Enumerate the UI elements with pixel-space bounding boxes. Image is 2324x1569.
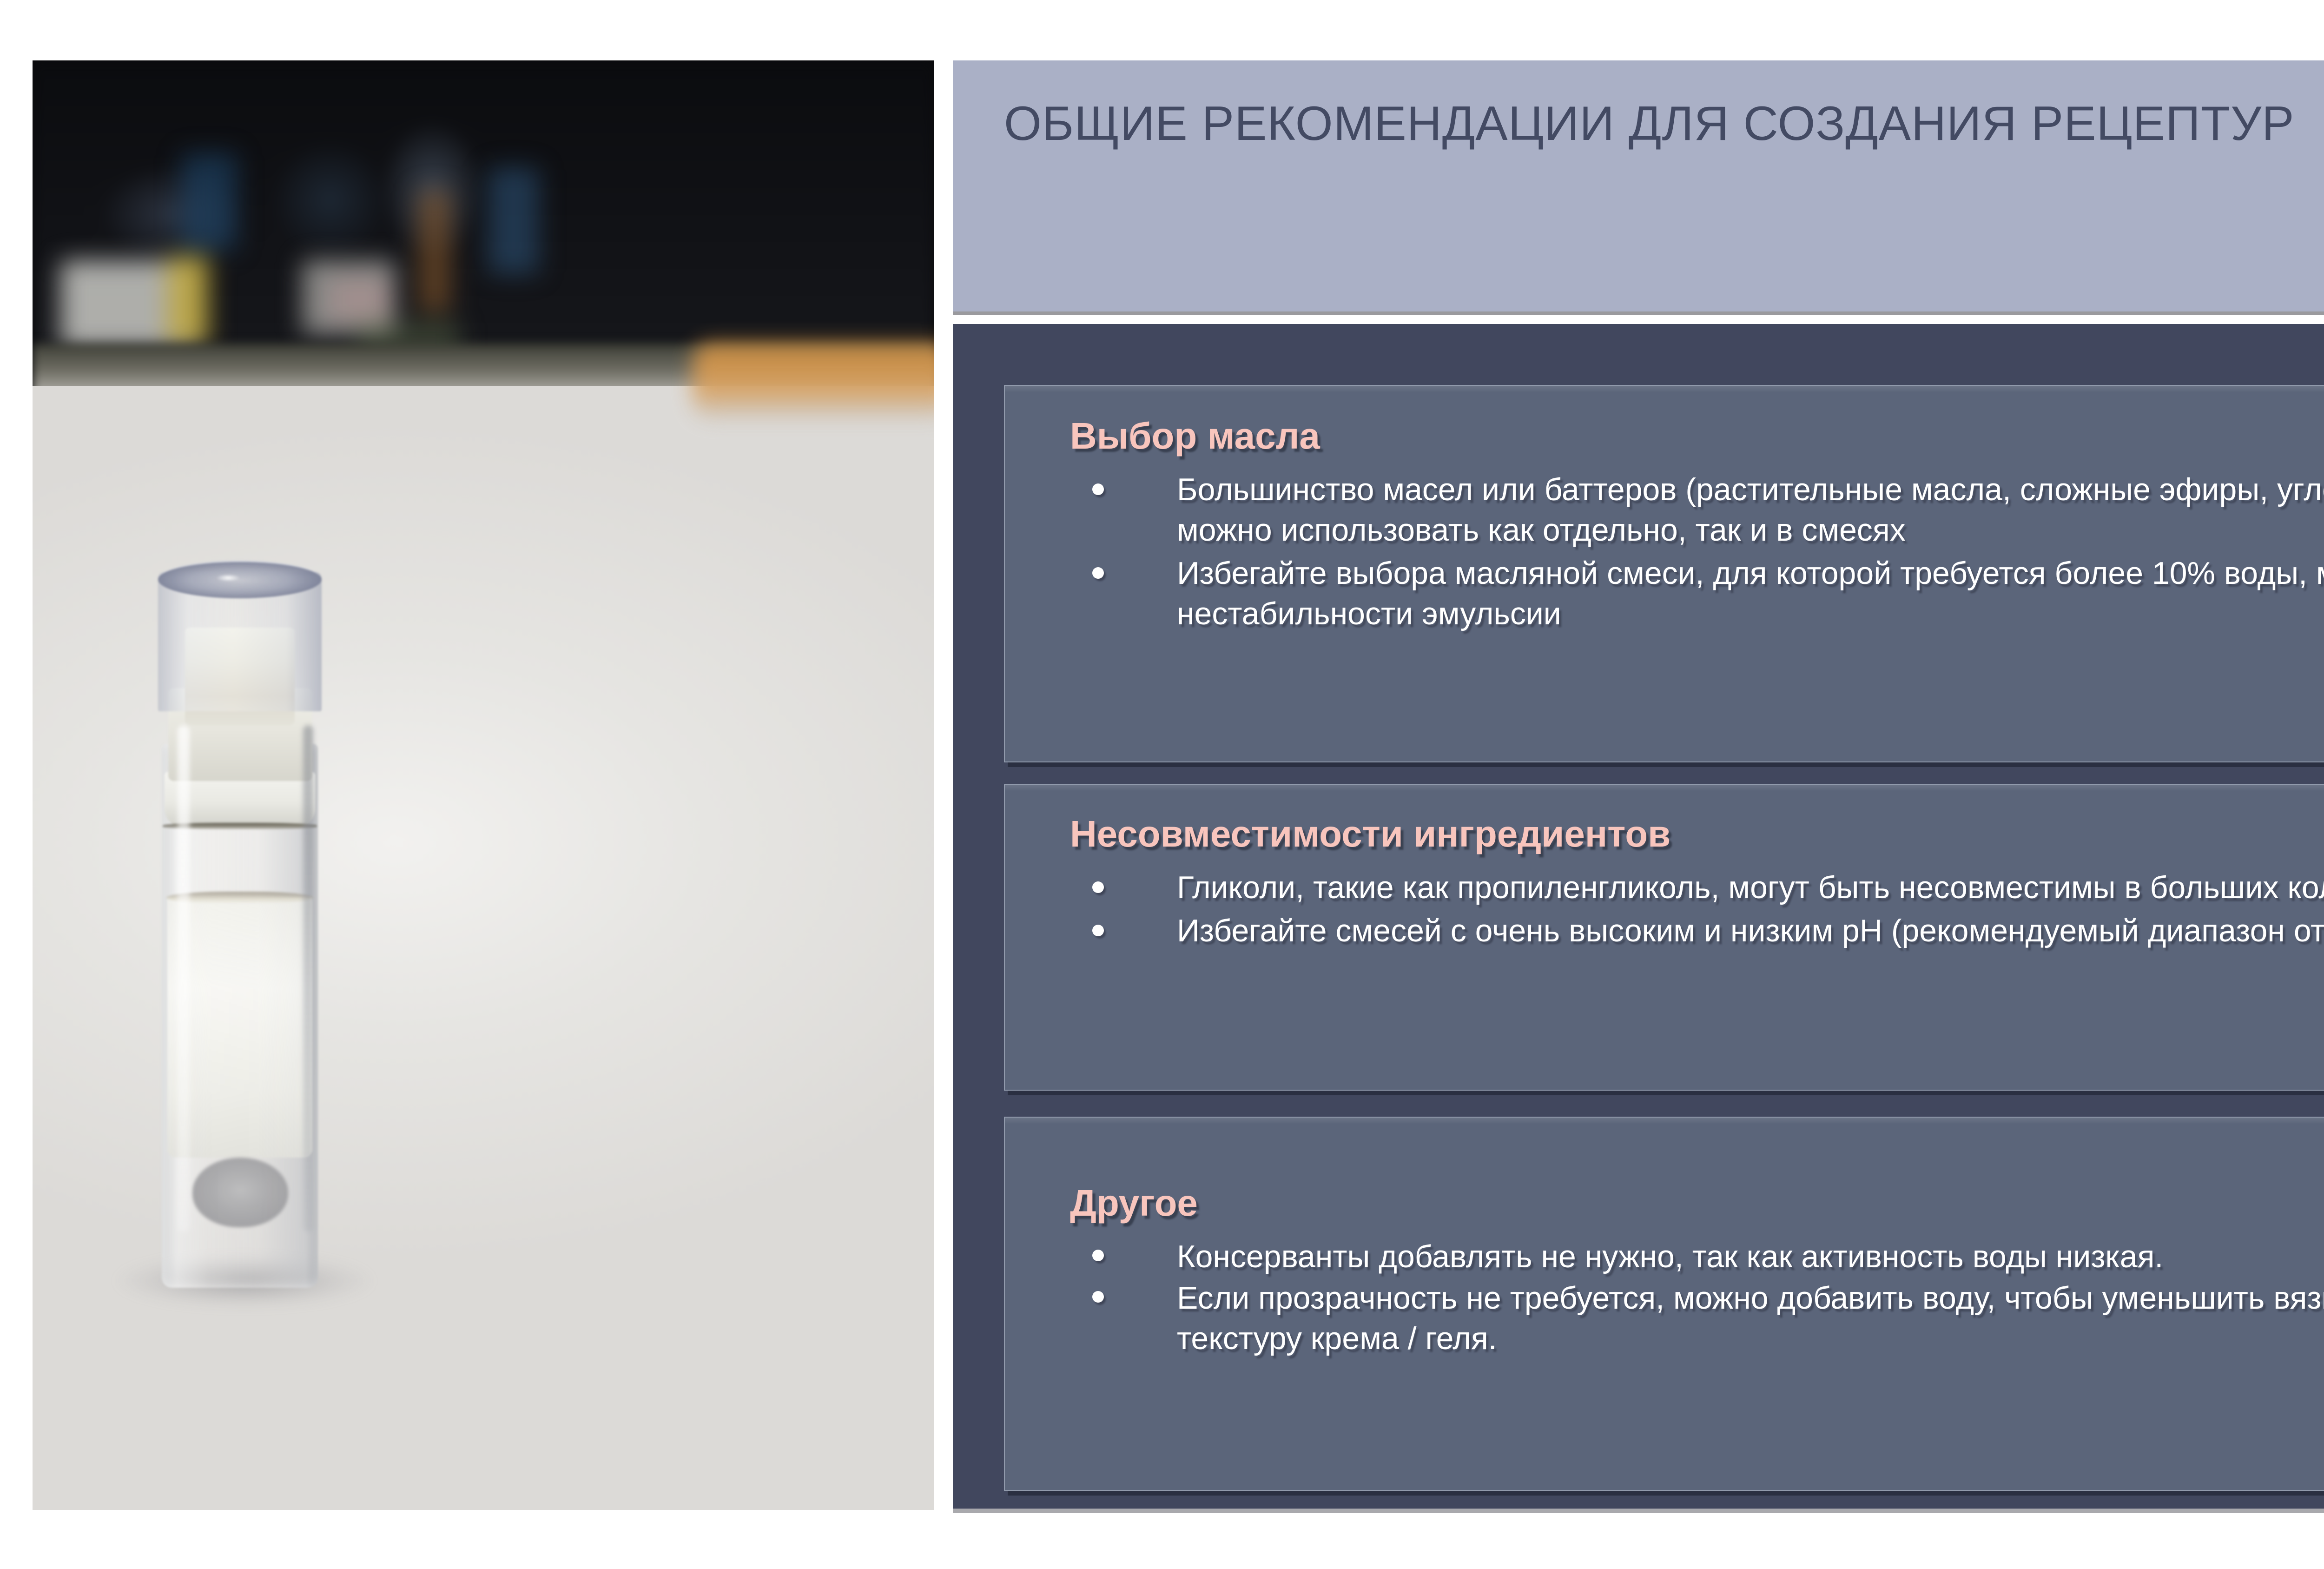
list-item-text: Большинство масел или баттеров (растител… (1177, 472, 2324, 548)
product-photo (33, 60, 934, 1510)
card-bullet-list: Гликоли, такие как пропиленгликоль, могу… (1005, 867, 2324, 954)
list-item-text: Избегайте смесей с очень высоким и низки… (1177, 913, 2324, 948)
bullet-dot-icon (1092, 1291, 1104, 1303)
slide-content-panel: Выбор масла Большинство масел или баттер… (953, 324, 2324, 1509)
bullet-dot-icon (1092, 567, 1104, 579)
photo-blob (330, 279, 390, 321)
bullet-dot-icon (1092, 925, 1104, 936)
list-item: Избегайте выбора масляной смеси, для кот… (1005, 553, 2324, 634)
card-bullet-list: Консерванты добавлять не нужно, так как … (1005, 1237, 2324, 1360)
content-card: Выбор масла Большинство масел или баттер… (1004, 385, 2324, 762)
airless-pump-bottle (142, 572, 337, 1316)
bullet-dot-icon (1092, 1250, 1104, 1261)
photo-orange-object (693, 343, 934, 417)
list-item: Гликоли, такие как пропиленгликоль, могу… (1005, 867, 2324, 908)
bottle-base-cap (192, 1158, 288, 1227)
photo-background-objects (33, 60, 934, 367)
bullet-dot-icon (1092, 881, 1104, 893)
bullet-dot-icon (1092, 483, 1104, 495)
list-item: Консерванты добавлять не нужно, так как … (1005, 1237, 2324, 1277)
card-heading: Несовместимости ингредиентов (1070, 813, 1670, 855)
bottle-right-edge (303, 725, 313, 1232)
photo-blob (181, 153, 237, 251)
photo-blob (167, 256, 209, 344)
content-card: Несовместимости ингредиентов Гликоли, та… (1004, 784, 2324, 1091)
list-item: Если прозрачность не требуется, можно до… (1005, 1278, 2324, 1359)
list-item-text: Гликоли, такие как пропиленгликоль, могу… (1177, 870, 2324, 905)
photo-blob (488, 167, 539, 274)
card-bullet-list: Большинство масел или баттеров (растител… (1005, 470, 2324, 637)
card-heading: Выбор масла (1070, 415, 1320, 457)
content-card: Другое Консерванты добавлять не нужно, т… (1004, 1117, 2324, 1491)
bottle-cap-highlight (212, 573, 244, 583)
card-heading: Другое (1070, 1182, 1198, 1225)
bottle-left-highlight (178, 725, 190, 1232)
list-item: Избегайте смесей с очень высоким и низки… (1005, 911, 2324, 951)
list-item: Большинство масел или баттеров (растител… (1005, 470, 2324, 550)
photo-blob (418, 191, 451, 311)
page-title: ОБЩИЕ РЕКОМЕНДАЦИИ ДЛЯ СОЗДАНИЯ РЕЦЕПТУР (1004, 93, 2324, 155)
list-item-text: Избегайте выбора масляной смеси, для кот… (1177, 556, 2324, 631)
list-item-text: Консерванты добавлять не нужно, так как … (1177, 1239, 2163, 1274)
list-item-text: Если прозрачность не требуется, можно до… (1177, 1280, 2324, 1356)
presentation-slide: ОБЩИЕ РЕКОМЕНДАЦИИ ДЛЯ СОЗДАНИЯ РЕЦЕПТУР… (0, 0, 2324, 1569)
slide-title-bar: ОБЩИЕ РЕКОМЕНДАЦИИ ДЛЯ СОЗДАНИЯ РЕЦЕПТУР (953, 60, 2324, 311)
